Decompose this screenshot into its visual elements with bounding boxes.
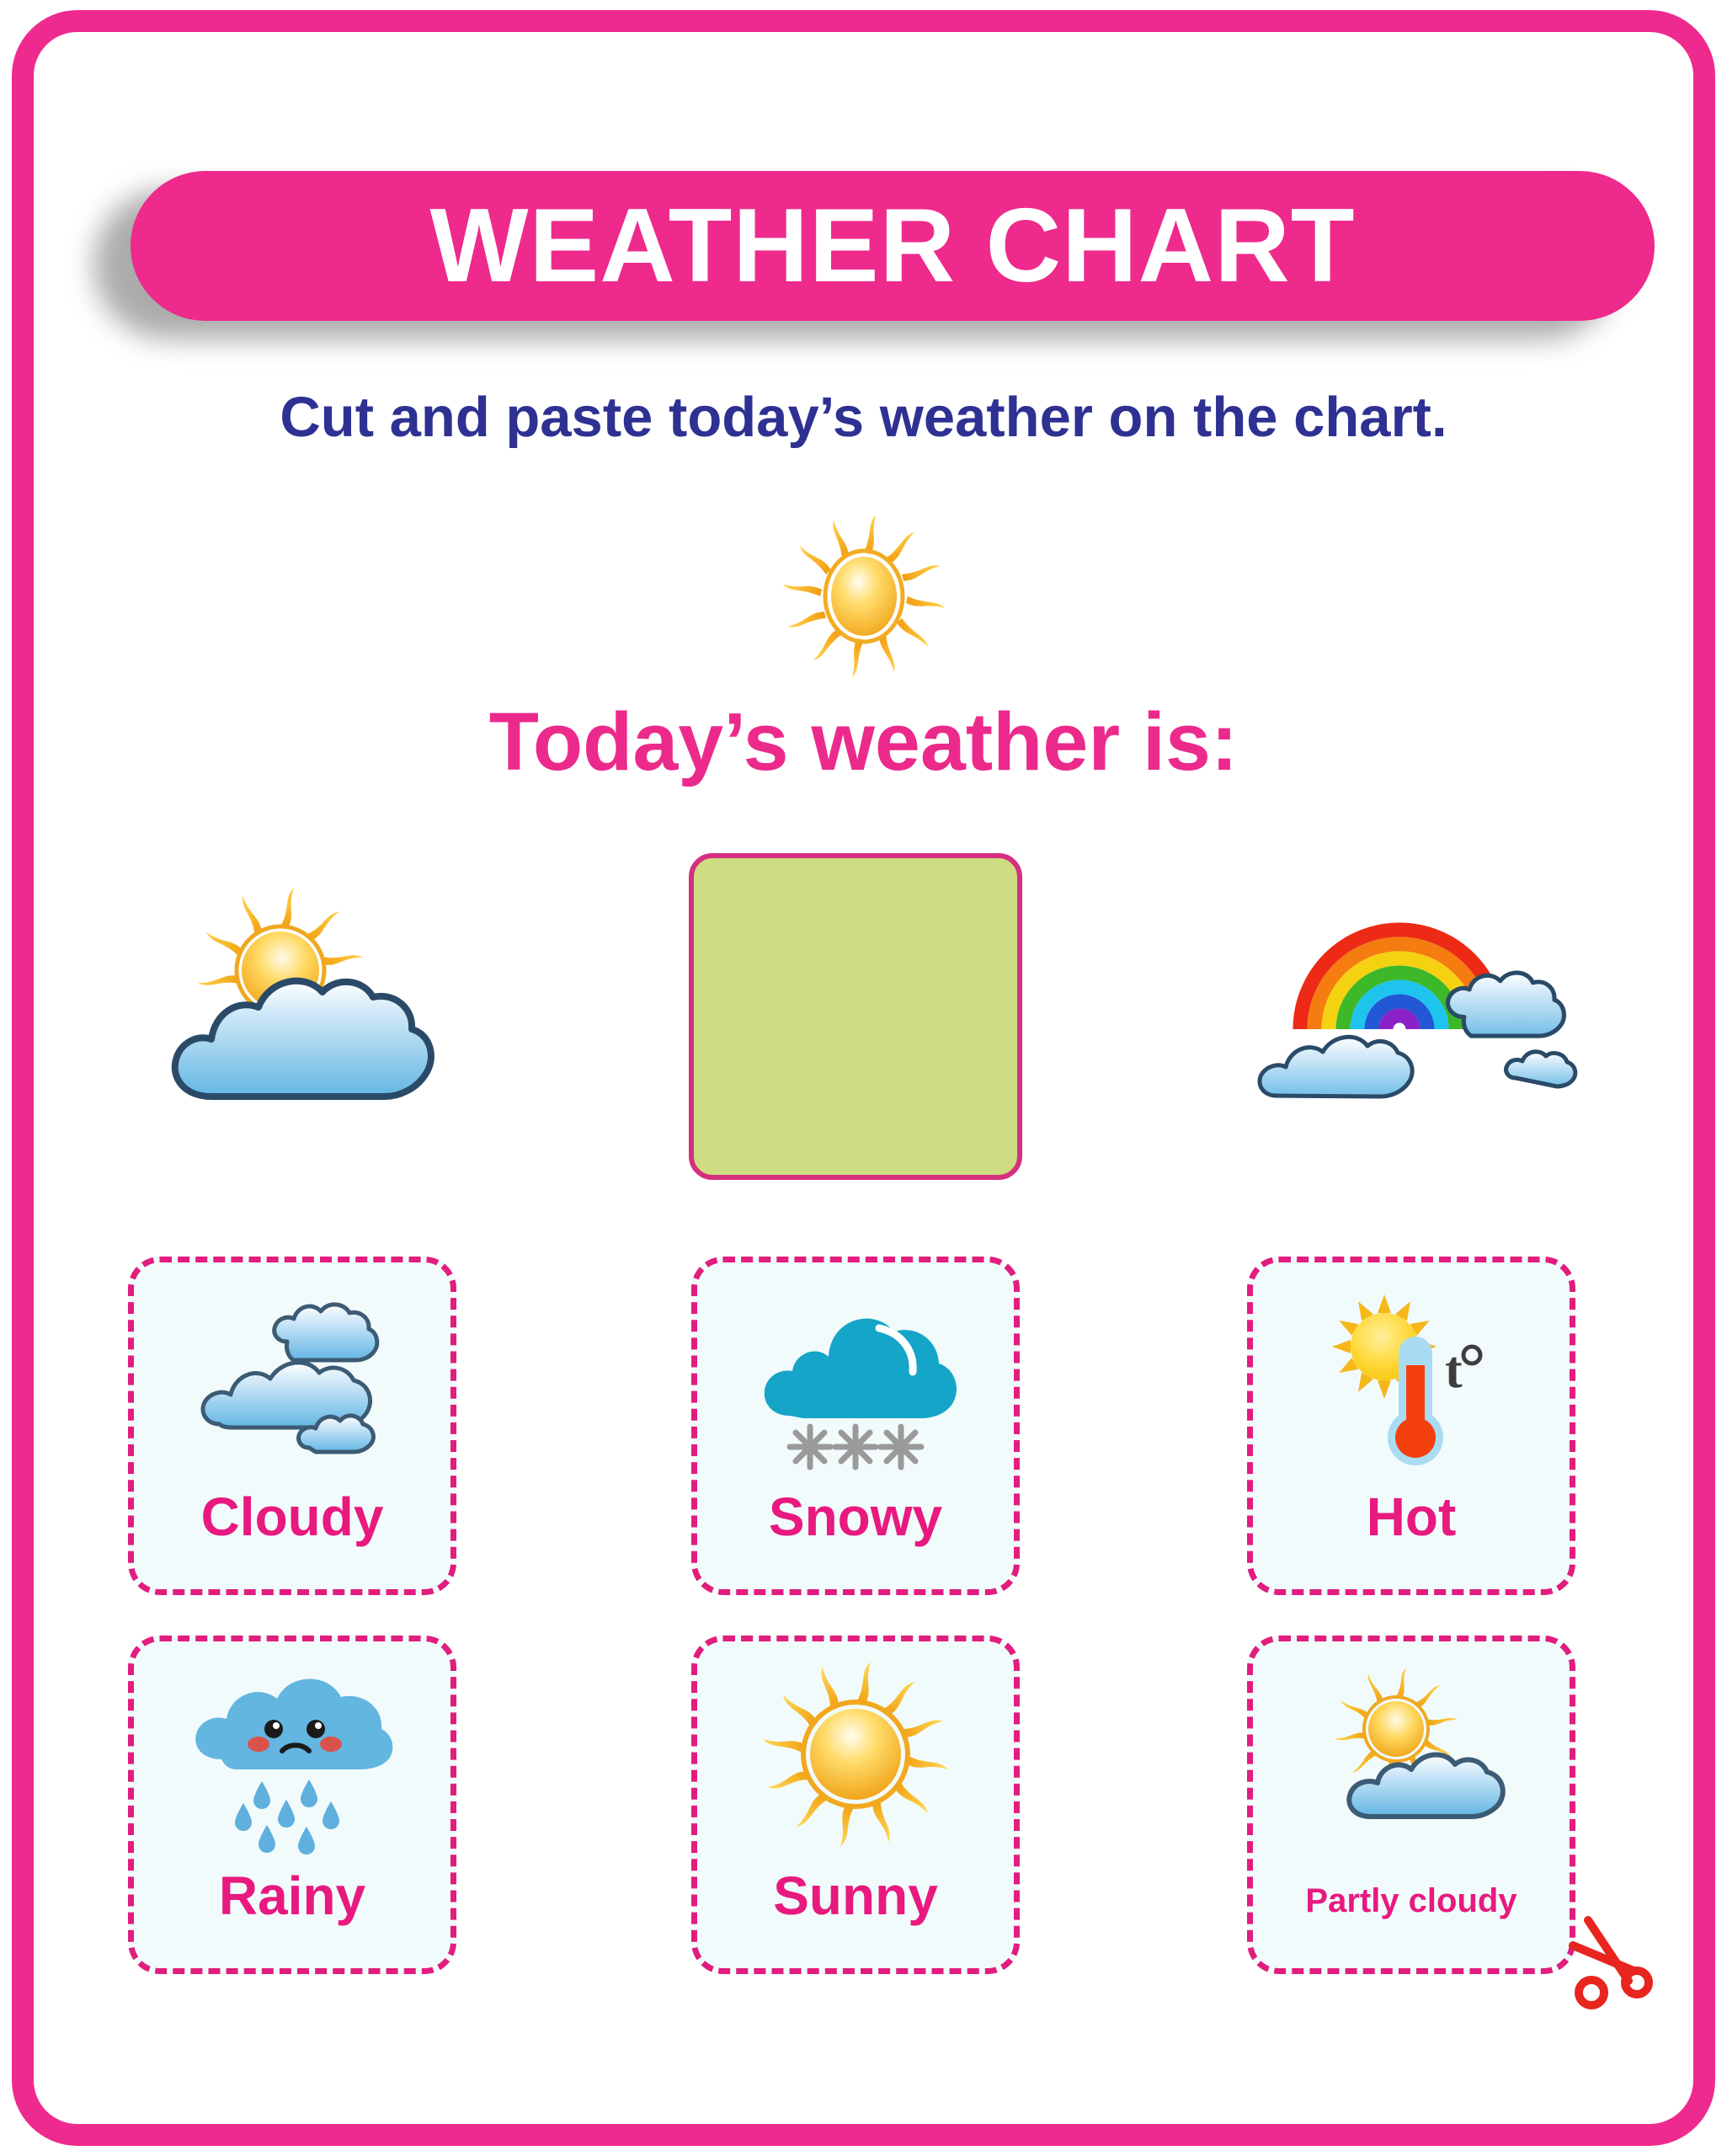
card-label: Sunny bbox=[773, 1869, 938, 1923]
worksheet-page: WEATHER CHART Cut and paste today’s weat… bbox=[0, 0, 1727, 2156]
scissors-icon bbox=[1563, 1905, 1664, 2015]
sun-behind-cloud-icon bbox=[1293, 1660, 1529, 1860]
card-label: Snowy bbox=[769, 1490, 942, 1544]
svg-text:t: t bbox=[1445, 1342, 1463, 1399]
answer-paste-box[interactable] bbox=[689, 853, 1022, 1180]
sun-behind-cloud-icon bbox=[156, 852, 450, 1147]
sad-rain-cloud-icon bbox=[174, 1660, 410, 1860]
weather-card-snowy[interactable]: Snowy bbox=[691, 1257, 1020, 1595]
today-weather-heading: Today’s weather is: bbox=[0, 701, 1727, 782]
card-label: Hot bbox=[1367, 1490, 1457, 1544]
card-label: Rainy bbox=[219, 1869, 365, 1923]
title-banner: WEATHER CHART bbox=[131, 171, 1655, 321]
sun-icon bbox=[780, 512, 948, 680]
weather-card-rainy[interactable]: Rainy bbox=[128, 1636, 456, 1974]
sun-icon bbox=[738, 1660, 973, 1860]
weather-card-cloudy[interactable]: Cloudy bbox=[128, 1257, 456, 1595]
three-clouds-icon bbox=[174, 1281, 410, 1481]
sun-thermometer-icon: t bbox=[1293, 1281, 1529, 1481]
instruction-text: Cut and paste today’s weather on the cha… bbox=[0, 389, 1727, 446]
snow-cloud-icon bbox=[738, 1281, 973, 1481]
card-label: Cloudy bbox=[201, 1490, 384, 1544]
weather-card-hot[interactable]: t Hot bbox=[1247, 1257, 1575, 1595]
answer-row bbox=[0, 842, 1727, 1179]
page-title: WEATHER CHART bbox=[429, 194, 1355, 298]
weather-card-sunny[interactable]: Sunny bbox=[691, 1636, 1020, 1974]
weather-cards-grid: Cloudy bbox=[0, 1257, 1727, 1998]
weather-card-partly-cloudy[interactable]: Partly cloudy bbox=[1247, 1636, 1575, 1974]
rainbow-with-clouds-icon bbox=[1248, 869, 1602, 1147]
card-label: Partly cloudy bbox=[1305, 1884, 1516, 1918]
banner-pill: WEATHER CHART bbox=[131, 171, 1655, 321]
